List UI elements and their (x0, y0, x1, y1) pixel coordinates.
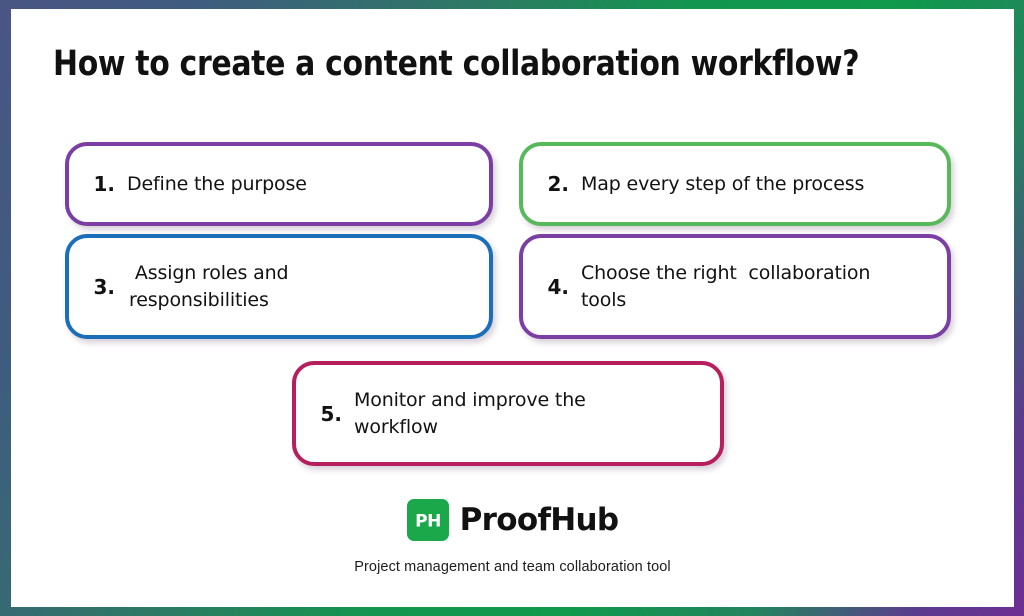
step-number-4: 4. (543, 277, 569, 297)
svg-text:PH: PH (415, 512, 441, 532)
proofhub-logo-icon: PH (407, 499, 449, 541)
brand-tagline: Project management and team collaboratio… (354, 559, 671, 575)
infographic-root: How to create a content collaboration wo… (0, 0, 1024, 616)
step-label-5: Monitor and improve the workflow (354, 387, 586, 439)
step-card-1[interactable]: 1. Define the purpose (65, 142, 493, 226)
step-card-5[interactable]: 5. Monitor and improve the workflow (292, 361, 724, 466)
step-label-4: Choose the right collaboration tools (581, 260, 870, 312)
step-number-2: 2. (543, 174, 569, 194)
step-card-4[interactable]: 4. Choose the right collaboration tools (519, 234, 951, 339)
step-label-1: Define the purpose (127, 171, 307, 197)
step-label-2: Map every step of the process (581, 171, 864, 197)
step-number-1: 1. (89, 174, 115, 194)
step-card-2[interactable]: 2. Map every step of the process (519, 142, 951, 226)
brand-logo-row[interactable]: PH ProofHub (407, 499, 619, 541)
infographic-canvas: How to create a content collaboration wo… (11, 9, 1014, 607)
step-number-3: 3. (89, 277, 115, 297)
step-label-3: Assign roles and responsibilities (129, 260, 288, 312)
brand-name: ProofHub (460, 505, 619, 536)
step-card-3[interactable]: 3. Assign roles and responsibilities (65, 234, 493, 339)
brand-footer: PH ProofHub Project management and team … (11, 499, 1014, 575)
step-number-5: 5. (316, 404, 342, 424)
